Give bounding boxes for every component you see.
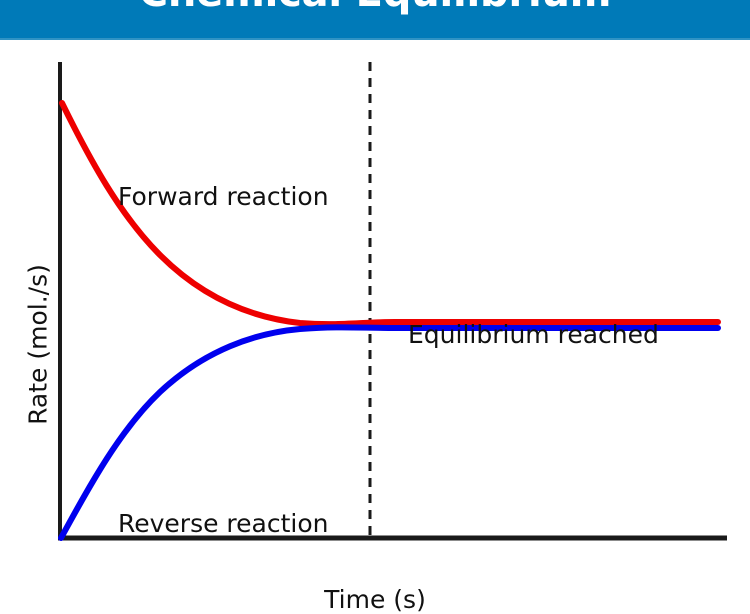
page-title: Chemical Equilibrium xyxy=(0,0,750,16)
forward-reaction-curve xyxy=(62,103,718,324)
chart-canvas xyxy=(0,40,750,563)
annotation-forward-reaction: Forward reaction xyxy=(118,182,329,211)
y-axis-title: Rate (mol./s) xyxy=(24,225,53,465)
annotation-equilibrium-reached: Equilibrium reached xyxy=(408,320,659,349)
x-axis-title: Time (s) xyxy=(0,585,750,614)
equilibrium-rate-chart: Forward reaction Reverse reaction Equili… xyxy=(0,40,750,563)
annotation-reverse-reaction: Reverse reaction xyxy=(118,509,329,538)
title-banner: Chemical Equilibrium xyxy=(0,0,750,38)
reverse-reaction-curve xyxy=(61,327,718,538)
